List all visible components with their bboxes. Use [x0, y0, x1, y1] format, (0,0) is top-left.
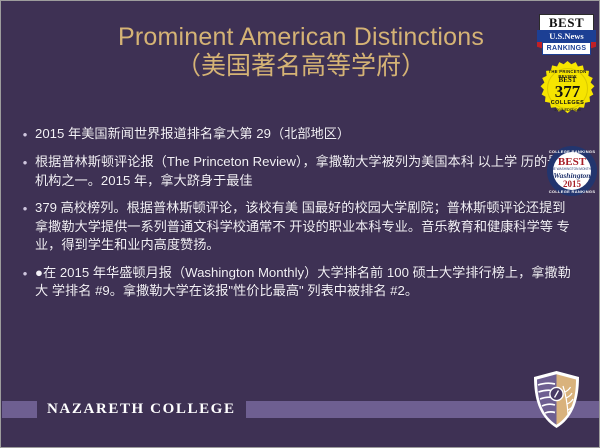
princeton-review-seal-badge: THE PRINCETON REVIEW BEST 377 COLLEGES 2…	[540, 61, 595, 116]
bullet-text: ●在 2015 年华盛顿月报（Washington Monthly）大学排名前 …	[35, 264, 575, 301]
washington-monthly-badge: COLLEGE RANKINGS COLLEGE RANKINGS BEST T…	[547, 146, 597, 196]
bullet-list: • 2015 年美国新闻世界报道排名拿大第 29（北部地区） • 根据普林斯顿评…	[15, 125, 575, 310]
bullet-dot-icon: •	[15, 199, 35, 218]
list-item: • 379 高校榜列。根据普林斯顿评论，该校有美 国最好的校园大学剧院；普林斯顿…	[15, 199, 575, 255]
list-item: • 根据普林斯顿评论报（The Princeton Review），拿撒勒大学被…	[15, 153, 575, 190]
washington-arc-top-label: COLLEGE RANKINGS	[547, 149, 597, 154]
title-line-english: Prominent American Distinctions	[1, 23, 600, 52]
list-item: • ●在 2015 年华盛顿月报（Washington Monthly）大学排名…	[15, 264, 575, 301]
bullet-text: 379 高校榜列。根据普林斯顿评论，该校有美 国最好的校园大学剧院；普林斯顿评论…	[35, 199, 575, 255]
usnews-rankings-label: RANKINGS	[542, 42, 591, 55]
bullet-text: 根据普林斯顿评论报（The Princeton Review），拿撒勒大学被列为…	[35, 153, 575, 190]
princeton-edition-label: 2015 EDITION	[540, 107, 595, 112]
nazareth-shield-logo	[532, 370, 581, 430]
princeton-number-label: 377	[540, 82, 595, 101]
presentation-slide: Prominent American Distinctions （美国著名高等学…	[0, 0, 600, 448]
princeton-colleges-label: COLLEGES	[540, 100, 595, 106]
list-item: • 2015 年美国新闻世界报道排名拿大第 29（北部地区）	[15, 125, 575, 144]
bullet-dot-icon: •	[15, 153, 35, 172]
bullet-text: 2015 年美国新闻世界报道排名拿大第 29（北部地区）	[35, 125, 575, 144]
usnews-brand-label: U.S.News	[537, 30, 596, 42]
usnews-best-label: BEST	[539, 14, 594, 31]
washington-year-label: 2015	[547, 179, 597, 189]
usnews-rankings-badge: BEST U.S.News RANKINGS	[537, 14, 596, 56]
title-line-chinese: （美国著名高等学府）	[1, 52, 600, 81]
bullet-dot-icon: •	[15, 264, 35, 283]
institution-name: NAZARETH COLLEGE	[37, 397, 246, 421]
bullet-dot-icon: •	[15, 125, 35, 144]
washington-arc-bottom-label: COLLEGE RANKINGS	[547, 189, 597, 194]
page-title: Prominent American Distinctions （美国著名高等学…	[1, 23, 600, 81]
